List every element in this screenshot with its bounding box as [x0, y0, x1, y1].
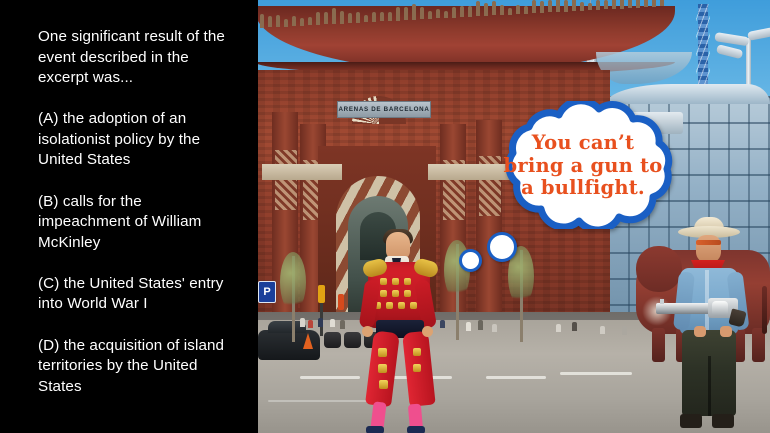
crenellation: [262, 164, 342, 180]
gold-embroidery: [398, 302, 405, 309]
gold-embroidery: [413, 348, 421, 356]
question-text-block: One significant result of the event desc…: [38, 27, 238, 397]
road-marking: [560, 372, 632, 375]
pedestrian: [300, 318, 305, 327]
gold-embroidery: [404, 278, 411, 285]
pedestrian: [308, 320, 313, 328]
cowboy-boot: [680, 414, 702, 428]
gold-embroidery: [392, 278, 399, 285]
answer-choice-c[interactable]: (C) the United States' entry into World …: [38, 274, 238, 315]
bull-tail: [762, 286, 767, 334]
pedestrian: [572, 322, 577, 331]
matador-figure: [352, 232, 448, 433]
answer-choice-a[interactable]: (A) the adoption of an isolationist poli…: [38, 109, 238, 171]
pedestrian: [492, 324, 497, 332]
pedestrian: [340, 320, 345, 329]
gun-front-sight: [660, 299, 664, 304]
arena-sign: ARENAS DE BARCELONA: [337, 101, 431, 118]
pedestrian: [478, 320, 483, 330]
traffic-light: [318, 285, 325, 303]
matador-shoe: [366, 426, 384, 433]
traffic-cone: [303, 333, 313, 349]
bubble-line-1: You can’t: [532, 132, 634, 155]
answer-choice-b[interactable]: (B) calls for the impeachment of William…: [38, 192, 238, 254]
thought-bubble: You can’t bring a gun to a bullfight.: [489, 101, 677, 229]
rooftop-crowd: [258, 0, 672, 40]
question-panel: One significant result of the event desc…: [0, 0, 258, 433]
gold-embroidery: [379, 380, 388, 389]
revolver-gun: [656, 296, 752, 326]
pedestrian: [540, 322, 545, 331]
parking-sign: P: [258, 281, 276, 303]
gold-embroidery: [404, 290, 411, 297]
cowboy-hand: [694, 326, 706, 337]
matador-shoe: [407, 426, 425, 433]
traffic-light: [338, 294, 344, 310]
gold-embroidery: [380, 290, 387, 297]
gold-embroidery: [410, 302, 417, 309]
gun-barrel: [656, 303, 716, 314]
tree-foliage: [280, 252, 306, 312]
thought-bubble-dot-small: [459, 249, 482, 272]
answer-choice-d[interactable]: (D) the acquisition of island territorie…: [38, 336, 238, 398]
cowboy-jeans-seam: [708, 356, 711, 416]
pedestrian: [318, 318, 323, 327]
gold-embroidery: [392, 290, 399, 297]
question-stem: One significant result of the event desc…: [38, 27, 238, 89]
pedestrian: [330, 319, 335, 327]
pedestrian: [556, 324, 561, 332]
cowboy-hand: [720, 326, 732, 337]
cowboy-sunglasses: [696, 240, 721, 245]
pedestrian: [622, 326, 627, 335]
matador-hand: [362, 326, 373, 337]
gold-embroidery: [413, 364, 421, 372]
gold-embroidery: [378, 364, 387, 373]
slide-canvas: ARENAS DE BARCELONA P: [0, 0, 770, 433]
bubble-line-3: a bullfight.: [521, 177, 645, 200]
gold-embroidery: [378, 348, 387, 357]
motorcycle: [324, 332, 341, 348]
thought-bubble-dot-large: [487, 232, 517, 262]
matador-hand: [422, 326, 433, 337]
road-marking: [300, 376, 360, 379]
cowboy-boot: [712, 414, 734, 428]
gold-embroidery: [380, 278, 387, 285]
pedestrian: [466, 322, 471, 331]
road-marking: [486, 376, 546, 379]
gun-grip: [728, 308, 746, 327]
cowboy-figure: [672, 226, 750, 433]
bubble-line-2: bring a gun to: [504, 155, 663, 178]
bull-leg: [652, 328, 665, 362]
facade-lattice: [275, 150, 297, 210]
gold-embroidery: [386, 302, 393, 309]
gun-cylinder: [712, 301, 728, 316]
pedestrian: [600, 326, 605, 334]
thought-bubble-text: You can’t bring a gun to a bullfight.: [489, 101, 677, 229]
